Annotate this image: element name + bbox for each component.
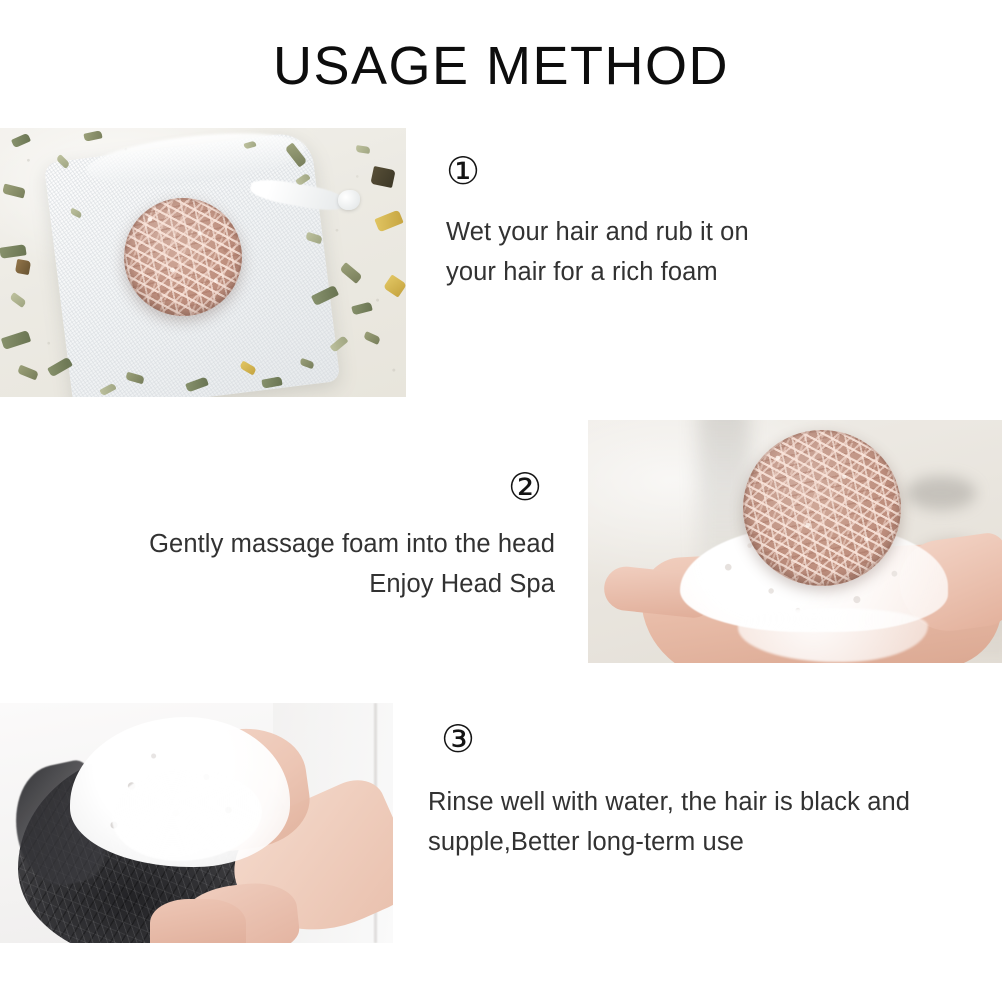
step-1-description: Wet your hair and rub it on your hair fo…: [446, 212, 866, 293]
step-1-number-badge: ①: [446, 152, 480, 190]
shampoo-bar: [124, 198, 242, 316]
mesh-bag-knot: [338, 190, 360, 210]
step-3-photo: [0, 703, 393, 943]
neck: [150, 899, 246, 943]
herb-fragment: [15, 259, 31, 275]
soap-bar-rim: [743, 430, 901, 586]
step-2-photo: [588, 420, 1002, 663]
step-1-photo: [0, 128, 406, 397]
step-2-number-badge: ②: [508, 468, 542, 506]
background-blur-right: [906, 476, 976, 510]
step-3-description: Rinse well with water, the hair is black…: [428, 782, 948, 863]
shampoo-bar: [743, 430, 901, 586]
page-title: USAGE METHOD: [0, 38, 1002, 95]
soap-bar-rim: [124, 198, 242, 316]
step-3-number-badge: ③: [441, 720, 475, 758]
step-2-description: Gently massage foam into the head Enjoy …: [100, 524, 555, 605]
